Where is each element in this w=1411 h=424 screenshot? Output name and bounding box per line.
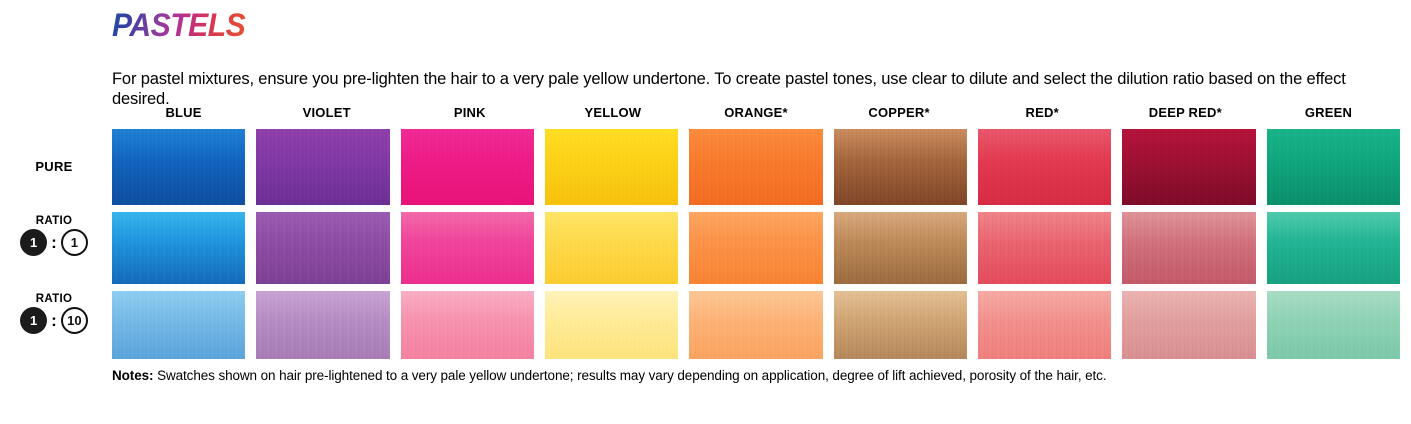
column-header-deep-red: DEEP RED* — [1114, 103, 1257, 129]
swatch-r11-red — [978, 212, 1111, 284]
ratio-separator-1-10: : — [50, 312, 58, 329]
swatch-row-ratio-1-10 — [112, 291, 1400, 359]
ratio-left-badge-1-10: 1 — [20, 307, 47, 334]
swatch-row-ratio-1-1 — [112, 212, 1400, 284]
row-label-pure-text: PURE — [35, 159, 72, 174]
swatch-r110-yellow — [545, 291, 678, 359]
swatch-r110-copper — [834, 291, 967, 359]
column-header-copper: COPPER* — [828, 103, 971, 129]
swatch-cell-r110-red[interactable] — [978, 291, 1111, 359]
swatch-r11-orange — [689, 212, 822, 284]
swatch-cell-r11-pink[interactable] — [401, 212, 534, 284]
row-label-ratio-1-1: RATIO 1 : 1 — [0, 215, 108, 256]
column-header-red: RED* — [971, 103, 1114, 129]
swatch-cell-r110-deep-red[interactable] — [1122, 291, 1255, 359]
ratio-word-1-1: RATIO — [0, 215, 108, 227]
swatch-cell-r110-green[interactable] — [1267, 291, 1400, 359]
column-header-yellow: YELLOW — [541, 103, 684, 129]
swatch-pure-red — [978, 129, 1111, 205]
swatch-cell-r11-yellow[interactable] — [545, 212, 678, 284]
swatch-cell-r11-deep-red[interactable] — [1122, 212, 1255, 284]
swatch-cell-r110-orange[interactable] — [689, 291, 822, 359]
swatch-r110-green — [1267, 291, 1400, 359]
swatch-pure-blue — [112, 129, 245, 205]
swatch-cell-pure-green[interactable] — [1267, 129, 1400, 205]
column-header-green: GREEN — [1257, 103, 1400, 129]
swatch-cell-r11-violet[interactable] — [256, 212, 389, 284]
ratio-badges-1-10: 1 : 10 — [0, 307, 108, 334]
swatch-r110-pink — [401, 291, 534, 359]
pastels-chart-page: PASTELS For pastel mixtures, ensure you … — [0, 0, 1411, 424]
column-header-blue: BLUE — [112, 103, 255, 129]
swatch-r110-deep-red — [1122, 291, 1255, 359]
swatch-row-pure — [112, 129, 1400, 205]
swatch-r11-violet — [256, 212, 389, 284]
row-label-pure: PURE — [0, 158, 108, 176]
swatch-cell-r11-copper[interactable] — [834, 212, 967, 284]
swatch-pure-copper — [834, 129, 967, 205]
swatch-pure-pink — [401, 129, 534, 205]
column-header-orange: ORANGE* — [684, 103, 827, 129]
swatch-cell-pure-red[interactable] — [978, 129, 1111, 205]
swatch-r110-blue — [112, 291, 245, 359]
column-header-violet: VIOLET — [255, 103, 398, 129]
swatch-r11-copper — [834, 212, 967, 284]
ratio-right-badge-1-10: 10 — [61, 307, 88, 334]
swatch-cell-r11-orange[interactable] — [689, 212, 822, 284]
swatch-cell-r110-pink[interactable] — [401, 291, 534, 359]
swatch-pure-green — [1267, 129, 1400, 205]
swatch-pure-yellow — [545, 129, 678, 205]
swatch-cell-pure-blue[interactable] — [112, 129, 245, 205]
swatch-cell-r11-red[interactable] — [978, 212, 1111, 284]
ratio-left-badge-1-1: 1 — [20, 229, 47, 256]
notes-line: Notes: Swatches shown on hair pre-lighte… — [112, 367, 1392, 384]
swatch-cell-pure-copper[interactable] — [834, 129, 967, 205]
swatch-cell-r110-copper[interactable] — [834, 291, 967, 359]
swatch-cell-pure-deep-red[interactable] — [1122, 129, 1255, 205]
swatch-grid: BLUE VIOLET PINK YELLOW ORANGE* COPPER* … — [112, 103, 1400, 366]
swatch-r110-violet — [256, 291, 389, 359]
swatch-cell-pure-yellow[interactable] — [545, 129, 678, 205]
swatch-cell-pure-violet[interactable] — [256, 129, 389, 205]
ratio-badges-1-1: 1 : 1 — [0, 229, 108, 256]
ratio-separator-1-1: : — [50, 234, 58, 251]
swatch-cell-pure-orange[interactable] — [689, 129, 822, 205]
swatch-cell-r11-green[interactable] — [1267, 212, 1400, 284]
column-header-pink: PINK — [398, 103, 541, 129]
ratio-word-1-10: RATIO — [0, 293, 108, 305]
swatch-cell-r11-blue[interactable] — [112, 212, 245, 284]
swatch-pure-deep-red — [1122, 129, 1255, 205]
swatch-cell-r110-violet[interactable] — [256, 291, 389, 359]
swatch-r110-red — [978, 291, 1111, 359]
swatch-r11-green — [1267, 212, 1400, 284]
notes-text: Swatches shown on hair pre-lightened to … — [157, 368, 1106, 383]
swatch-pure-orange — [689, 129, 822, 205]
swatch-cell-r110-blue[interactable] — [112, 291, 245, 359]
swatch-r110-orange — [689, 291, 822, 359]
page-title: PASTELS — [112, 6, 245, 44]
swatch-pure-violet — [256, 129, 389, 205]
column-header-row: BLUE VIOLET PINK YELLOW ORANGE* COPPER* … — [112, 103, 1400, 129]
row-label-ratio-1-10: RATIO 1 : 10 — [0, 293, 108, 334]
notes-label: Notes: — [112, 368, 153, 383]
swatch-r11-yellow — [545, 212, 678, 284]
swatch-r11-blue — [112, 212, 245, 284]
swatch-cell-r110-yellow[interactable] — [545, 291, 678, 359]
swatch-cell-pure-pink[interactable] — [401, 129, 534, 205]
ratio-right-badge-1-1: 1 — [61, 229, 88, 256]
swatch-r11-pink — [401, 212, 534, 284]
swatch-r11-deep-red — [1122, 212, 1255, 284]
